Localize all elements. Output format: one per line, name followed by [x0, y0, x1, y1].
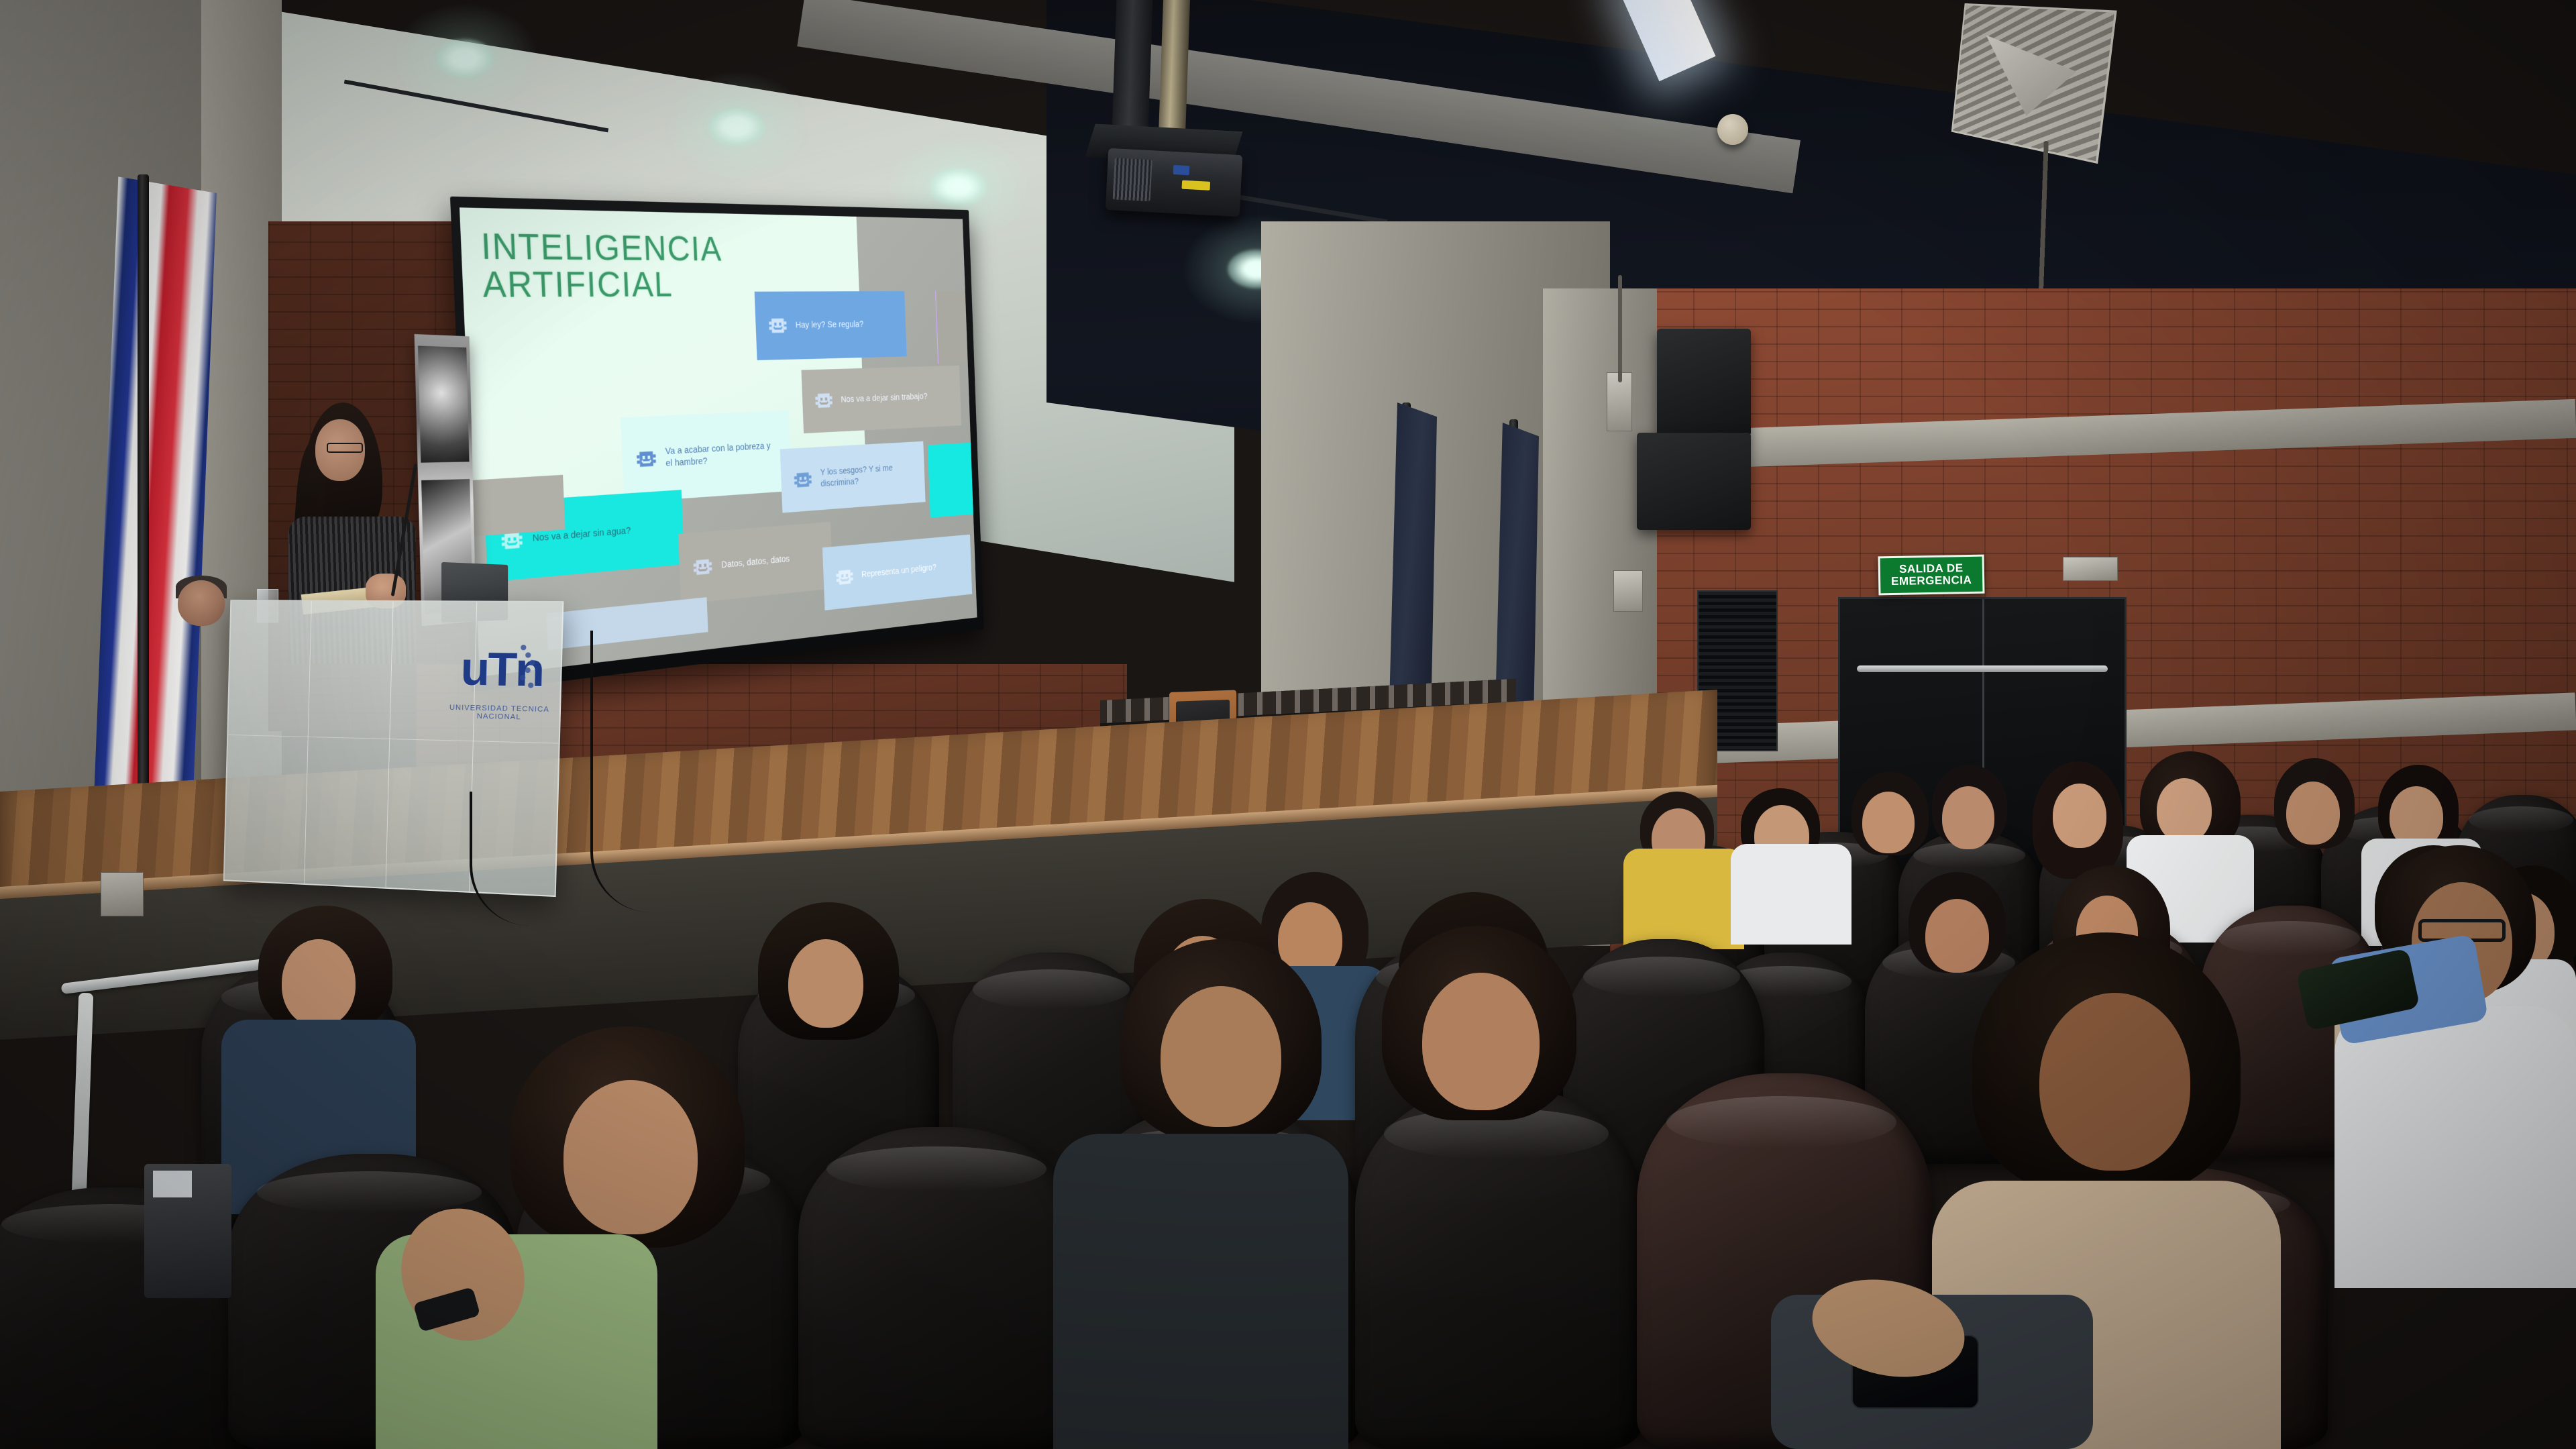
wall-plate	[2063, 557, 2118, 581]
exit-sign-line2: EMERGENCIA	[1891, 574, 1972, 588]
slide-card-text: Datos, datos, datos	[721, 551, 821, 572]
robot-face-icon	[692, 553, 714, 580]
audience-person-head	[563, 1080, 698, 1234]
slide-card: Hay ley? Se regula?	[755, 291, 907, 360]
ceiling-downlight	[708, 107, 765, 146]
slide-card: Y los sesgos? Y si me discrimina?	[780, 441, 925, 513]
slide-card-text: Representa un peligro?	[861, 560, 961, 581]
emergency-exit-sign: SALIDA DE EMERGENCIA	[1878, 555, 1985, 596]
podium-pane-divider	[385, 602, 393, 888]
audience-person-head	[788, 939, 863, 1028]
audience-person-torso	[1053, 1134, 1348, 1449]
audience-person-head	[1925, 899, 1989, 973]
ceiling-downlight	[929, 168, 987, 207]
audience-person-head	[2286, 782, 2340, 845]
audience-person-head	[2053, 784, 2106, 848]
slide-card-text: Hay ley? Se regula?	[796, 319, 896, 331]
projector-label	[1182, 180, 1211, 191]
projector-vent	[1113, 158, 1152, 201]
auditorium-seat[interactable]	[798, 1127, 1080, 1449]
robot-face-icon	[792, 467, 814, 492]
auditorium-scene: SALIDA DE EMERGENCIA INTELIGENCIA ARTIFI…	[0, 0, 2576, 1449]
robot-face-icon	[635, 445, 658, 472]
audience-person-head	[1161, 986, 1281, 1127]
robot-face-icon	[834, 564, 855, 590]
slide-card-text: Nos va a dejar sin trabajo?	[841, 390, 951, 406]
glasses-icon	[327, 443, 363, 453]
wall-plate	[1613, 570, 1643, 612]
utn-logo-subtitle: UNIVERSIDAD TECNICA NACIONAL	[447, 704, 551, 722]
robot-face-icon	[813, 388, 835, 413]
slide-title-line2: ARTIFICIAL	[482, 265, 724, 303]
slide-card: Datos, datos, datos	[678, 522, 833, 604]
flag-pole	[138, 174, 149, 885]
slide-accent-block	[471, 475, 565, 537]
loudspeaker-top	[1657, 329, 1751, 436]
slide-card-text: Y los sesgos? Y si me discrimina?	[820, 462, 914, 490]
notebook-icon	[153, 1171, 192, 1197]
slide-card: Nos va a dejar sin trabajo?	[801, 365, 961, 433]
auditorium-seat[interactable]	[1355, 1087, 1644, 1449]
audience-person-head	[1862, 792, 1915, 853]
podium-pane-divider	[304, 601, 312, 883]
seated-person-head	[178, 580, 225, 626]
projector-icon	[1106, 148, 1243, 217]
electrical-box	[101, 872, 144, 916]
projector-badge	[1173, 165, 1190, 175]
robot-face-icon	[767, 313, 788, 338]
speaker-conduit	[1618, 275, 1622, 382]
audience-person-head	[2039, 993, 2190, 1171]
audience-person-head	[282, 939, 356, 1026]
podium-horizontal-line	[228, 735, 558, 744]
ceiling-downlight	[436, 39, 494, 78]
slide-accent-block	[928, 443, 973, 518]
audience-person-torso	[1623, 849, 1744, 949]
audience-person-head	[1942, 786, 1994, 849]
push-bar[interactable]	[1857, 665, 2107, 672]
smoke-detector-icon	[1717, 114, 1748, 145]
audience-person-head	[1422, 973, 1540, 1110]
audience-person-torso	[2334, 1006, 2576, 1288]
slide-title-line1: INTELIGENCIA	[480, 227, 722, 266]
mic-cable	[590, 631, 671, 912]
slide-card-text: Va a acabar con la pobreza y el hambre?	[665, 440, 780, 470]
audience-person-torso	[1731, 844, 1851, 945]
utn-logo-dots	[518, 645, 537, 693]
slide-accent-block	[935, 291, 968, 364]
loudspeaker-bottom	[1637, 433, 1751, 530]
slide-title: INTELIGENCIA ARTIFICIAL	[480, 227, 724, 303]
audience-person-head	[2157, 778, 2212, 843]
slide-card: Representa un peligro?	[822, 535, 972, 610]
slide-card: Va a acabar con la pobreza y el hambre?	[621, 411, 792, 502]
